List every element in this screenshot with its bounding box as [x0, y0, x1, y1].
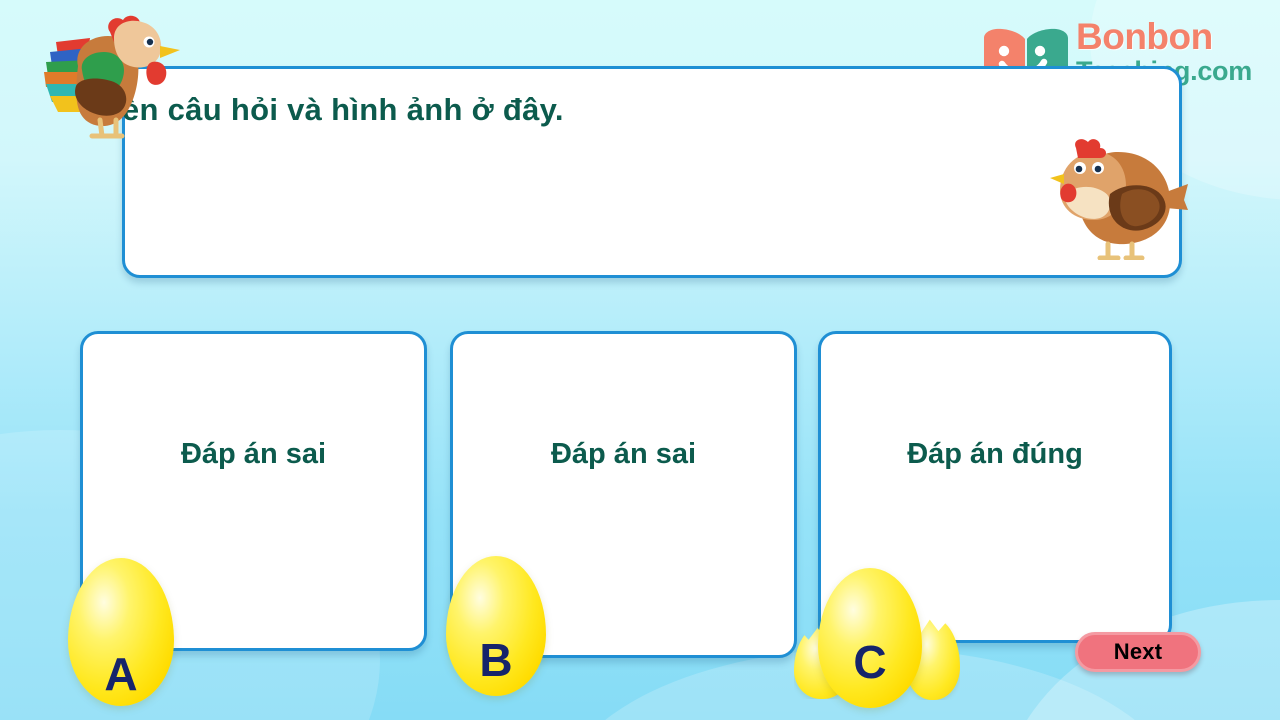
rooster-icon — [18, 8, 188, 143]
answer-text-c: Đáp án đúng — [821, 438, 1169, 471]
next-button[interactable]: Next — [1075, 632, 1201, 672]
answer-egg-letter-a: A — [104, 651, 137, 697]
answer-text-b: Đáp án sai — [453, 438, 794, 471]
hen-icon — [1048, 138, 1190, 260]
next-button-label: Next — [1114, 639, 1163, 665]
answer-egg-letter-b: B — [479, 637, 512, 683]
answer-text-a: Đáp án sai — [83, 438, 424, 471]
answer-egg-letter-c: C — [853, 639, 886, 685]
logo-bonbon-text: Bonbon — [1076, 18, 1252, 55]
quiz-slide: Bonbon Teaching.com Tài liệu dạy tiếng A… — [0, 0, 1280, 720]
